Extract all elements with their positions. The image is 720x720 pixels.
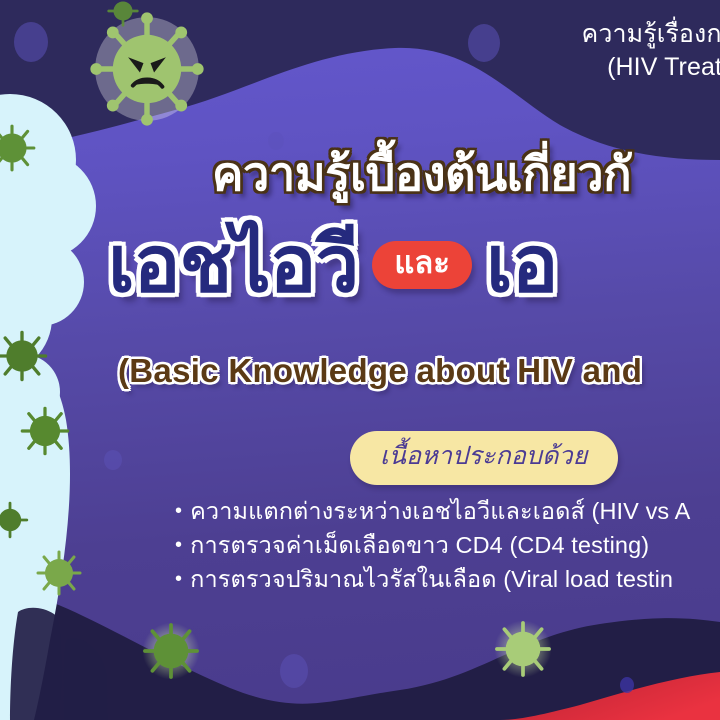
list-item-label: ความแตกต่างระหว่างเอชไอวีและเอดส์ (HIV v… bbox=[190, 495, 690, 529]
contents-badge: เนื้อหาประกอบด้วย bbox=[350, 431, 618, 485]
corner-heading-line-2: (HIV Treatment bbox=[258, 51, 720, 84]
page-title: ความรู้เบื้องต้นเกี่ยวกั bbox=[212, 136, 720, 211]
corner-heading: ความรู้เรื่องการรัก (HIV Treatment bbox=[258, 18, 720, 85]
virus-icon bbox=[18, 404, 72, 458]
virus-icon bbox=[0, 122, 38, 174]
bullet-dot-icon: • bbox=[175, 569, 182, 589]
subtitle-english: (Basic Knowledge about HIV and bbox=[118, 352, 720, 390]
decor-dot bbox=[104, 450, 122, 470]
list-item-label: การตรวจค่าเม็ดเลือดขาว CD4 (CD4 testing) bbox=[190, 529, 649, 563]
connector-badge: และ bbox=[372, 241, 472, 290]
decor-dot bbox=[14, 22, 48, 62]
bullet-dot-icon: • bbox=[175, 535, 182, 555]
poster-canvas: ความรู้เรื่องการรัก (HIV Treatment ความร… bbox=[0, 0, 720, 720]
contents-list: • ความแตกต่างระหว่างเอชไอวีและเอดส์ (HIV… bbox=[175, 495, 720, 596]
virus-icon bbox=[106, 0, 140, 28]
big-title: เอชไอวี และ เอ bbox=[108, 222, 557, 308]
decor-dot bbox=[620, 677, 634, 693]
list-item: • การตรวจปริมาณไวรัสในเลือด (Viral load … bbox=[175, 563, 720, 597]
virus-icon bbox=[492, 618, 554, 680]
virus-icon bbox=[34, 548, 84, 598]
virus-icon bbox=[0, 328, 50, 384]
virus-icon bbox=[140, 620, 202, 682]
list-item-label: การตรวจปริมาณไวรัสในเลือด (Viral load te… bbox=[190, 563, 673, 597]
bullet-dot-icon: • bbox=[175, 501, 182, 521]
corner-heading-line-1: ความรู้เรื่องการรัก bbox=[258, 18, 720, 51]
virus-icon bbox=[0, 500, 30, 540]
list-item: • การตรวจค่าเม็ดเลือดขาว CD4 (CD4 testin… bbox=[175, 529, 720, 563]
decor-dot bbox=[280, 654, 308, 688]
big-title-word-aids: เอ bbox=[486, 222, 558, 308]
big-title-word-hiv: เอชไอวี bbox=[108, 222, 358, 308]
list-item: • ความแตกต่างระหว่างเอชไอวีและเอดส์ (HIV… bbox=[175, 495, 720, 529]
